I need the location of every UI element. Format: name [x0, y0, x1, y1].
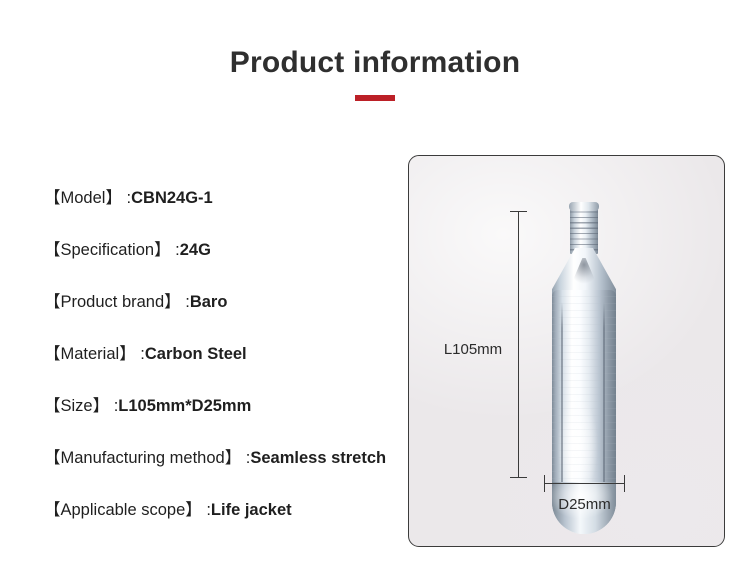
co2-cartridge-image: [546, 206, 622, 536]
page-header: Product information: [0, 46, 750, 101]
spec-label-text: Material: [61, 345, 120, 363]
spec-label-text: Specification: [61, 241, 155, 259]
spec-label-text: Product brand: [61, 293, 165, 311]
spec-label-text: Manufacturing method: [61, 449, 225, 467]
bracket-open: 【: [44, 345, 61, 363]
spec-label-text: Model: [61, 189, 106, 207]
length-dimension-cap-top: [510, 211, 527, 212]
spec-separator: :: [181, 293, 190, 311]
spec-label: 【Specification】: [44, 241, 171, 259]
spec-label: 【Manufacturing method】: [44, 449, 241, 467]
title-underline-rule: [355, 95, 395, 101]
spec-row: 【Specification】 :24G: [44, 238, 404, 290]
spec-row: 【Product brand】 :Baro: [44, 290, 404, 342]
spec-row: 【Material】 :Carbon Steel: [44, 342, 404, 394]
spec-value: Life jacket: [211, 501, 292, 519]
spec-value: Baro: [190, 293, 228, 311]
bracket-open: 【: [44, 241, 61, 259]
page-title: Product information: [0, 46, 750, 79]
bracket-close: 】: [225, 449, 242, 467]
spec-separator: :: [122, 189, 131, 207]
spec-row: 【Model】 :CBN24G-1: [44, 186, 404, 238]
spec-value: Seamless stretch: [250, 449, 386, 467]
spec-separator: :: [136, 345, 145, 363]
spec-label: 【Model】: [44, 189, 122, 207]
spec-separator: :: [202, 501, 211, 519]
spec-label: 【Material】: [44, 345, 136, 363]
spec-value: L105mm*D25mm: [118, 397, 251, 415]
spec-value: CBN24G-1: [131, 189, 213, 207]
diameter-dimension-cap-left: [544, 475, 545, 492]
bracket-close: 】: [154, 241, 171, 259]
bracket-close: 】: [164, 293, 181, 311]
bracket-open: 【: [44, 397, 61, 415]
spec-label: 【Product brand】: [44, 293, 181, 311]
spec-separator: :: [109, 397, 118, 415]
bracket-open: 【: [44, 449, 61, 467]
diameter-dimension-cap-right: [624, 475, 625, 492]
spec-label-text: Size: [61, 397, 93, 415]
length-dimension-label: L105mm: [433, 341, 513, 358]
spec-separator: :: [171, 241, 180, 259]
spec-label-text: Applicable scope: [61, 501, 186, 519]
cartridge-neck-tip: [569, 202, 599, 211]
bracket-open: 【: [44, 293, 61, 311]
spec-value: 24G: [180, 241, 211, 259]
diameter-dimension-line: [544, 483, 624, 484]
product-spec-list: 【Model】 :CBN24G-1 【Specification】 :24G 【…: [44, 186, 404, 550]
length-dimension-cap-bottom: [510, 477, 527, 478]
length-dimension-line: [518, 211, 519, 477]
bracket-close: 】: [119, 345, 136, 363]
spec-row: 【Size】 :L105mm*D25mm: [44, 394, 404, 446]
spec-separator: :: [241, 449, 250, 467]
spec-value: Carbon Steel: [145, 345, 247, 363]
bracket-close: 】: [185, 501, 202, 519]
cartridge-threaded-neck: [570, 206, 598, 254]
bracket-close: 】: [93, 397, 110, 415]
bracket-open: 【: [44, 501, 61, 519]
bracket-close: 】: [105, 189, 122, 207]
spec-row: 【Applicable scope】 :Life jacket: [44, 498, 404, 550]
product-image-panel: L105mm D25mm: [408, 155, 725, 547]
diameter-dimension-label: D25mm: [537, 496, 632, 513]
bracket-open: 【: [44, 189, 61, 207]
spec-label: 【Size】: [44, 397, 109, 415]
spec-label: 【Applicable scope】: [44, 501, 202, 519]
spec-row: 【Manufacturing method】 :Seamless stretch: [44, 446, 404, 498]
